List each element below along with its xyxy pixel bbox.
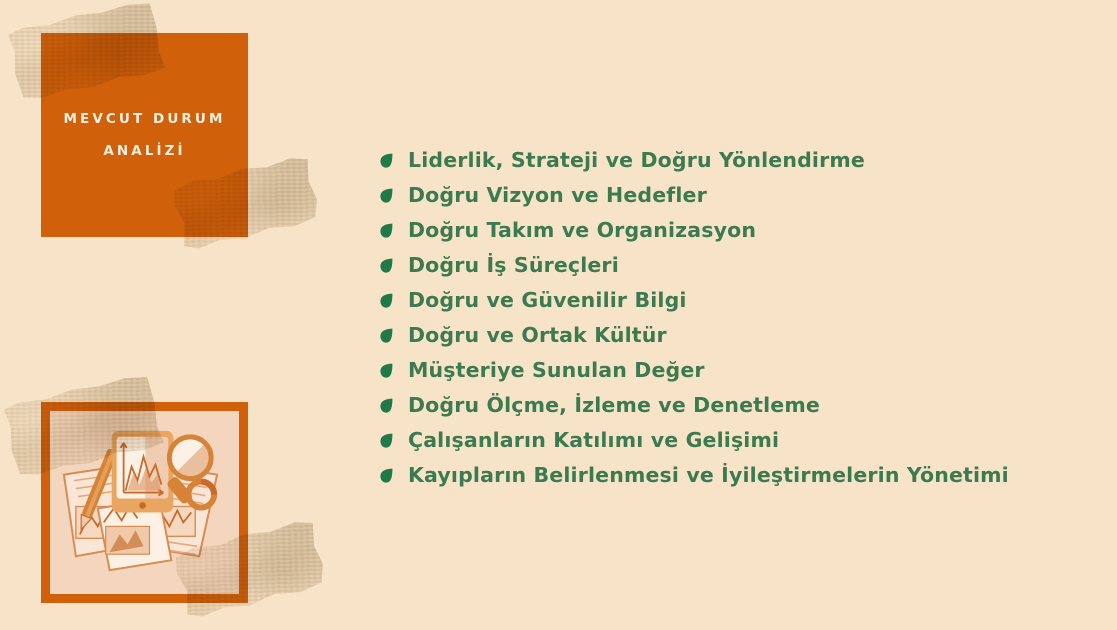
list-item-label: Çalışanların Katılımı ve Gelişimi xyxy=(408,430,779,451)
list-item: Doğru ve Ortak Kültür xyxy=(380,318,1080,353)
list-item-label: Doğru ve Güvenilir Bilgi xyxy=(408,290,687,311)
list-item-label: Doğru İş Süreçleri xyxy=(408,255,619,276)
list-item-label: Doğru ve Ortak Kültür xyxy=(408,325,667,346)
list-item: Doğru Ölçme, İzleme ve Denetleme xyxy=(380,388,1080,423)
leaf-icon xyxy=(380,398,393,413)
list-item: Kayıpların Belirlenmesi ve İyileştirmele… xyxy=(380,458,1080,493)
list-item-label: Doğru Ölçme, İzleme ve Denetleme xyxy=(408,395,820,416)
list-item: Doğru İş Süreçleri xyxy=(380,248,1080,283)
slide-canvas: MEVCUT DURUM ANALİZİ xyxy=(0,0,1117,630)
leaf-icon xyxy=(380,293,393,308)
list-item: Doğru ve Güvenilir Bilgi xyxy=(380,283,1080,318)
leaf-icon xyxy=(380,433,393,448)
leaf-icon xyxy=(380,468,393,483)
list-item: Liderlik, Strateji ve Doğru Yönlendirme xyxy=(380,143,1080,178)
list-item: Doğru Vizyon ve Hedefler xyxy=(380,178,1080,213)
list-item-label: Müşteriye Sunulan Değer xyxy=(408,360,705,381)
list-item: Çalışanların Katılımı ve Gelişimi xyxy=(380,423,1080,458)
list-item-label: Doğru Takım ve Organizasyon xyxy=(408,220,756,241)
list-item-label: Doğru Vizyon ve Hedefler xyxy=(408,185,707,206)
list-item: Müşteriye Sunulan Değer xyxy=(380,353,1080,388)
leaf-icon xyxy=(380,188,393,203)
list-item-label: Liderlik, Strateji ve Doğru Yönlendirme xyxy=(408,150,865,171)
bullet-list: Liderlik, Strateji ve Doğru Yönlendirme … xyxy=(380,143,1080,493)
list-item: Doğru Takım ve Organizasyon xyxy=(380,213,1080,248)
leaf-icon xyxy=(380,153,393,168)
leaf-icon xyxy=(380,328,393,343)
leaf-icon xyxy=(380,223,393,238)
list-item-label: Kayıpların Belirlenmesi ve İyileştirmele… xyxy=(408,465,1009,486)
leaf-icon xyxy=(380,363,393,378)
leaf-icon xyxy=(380,258,393,273)
